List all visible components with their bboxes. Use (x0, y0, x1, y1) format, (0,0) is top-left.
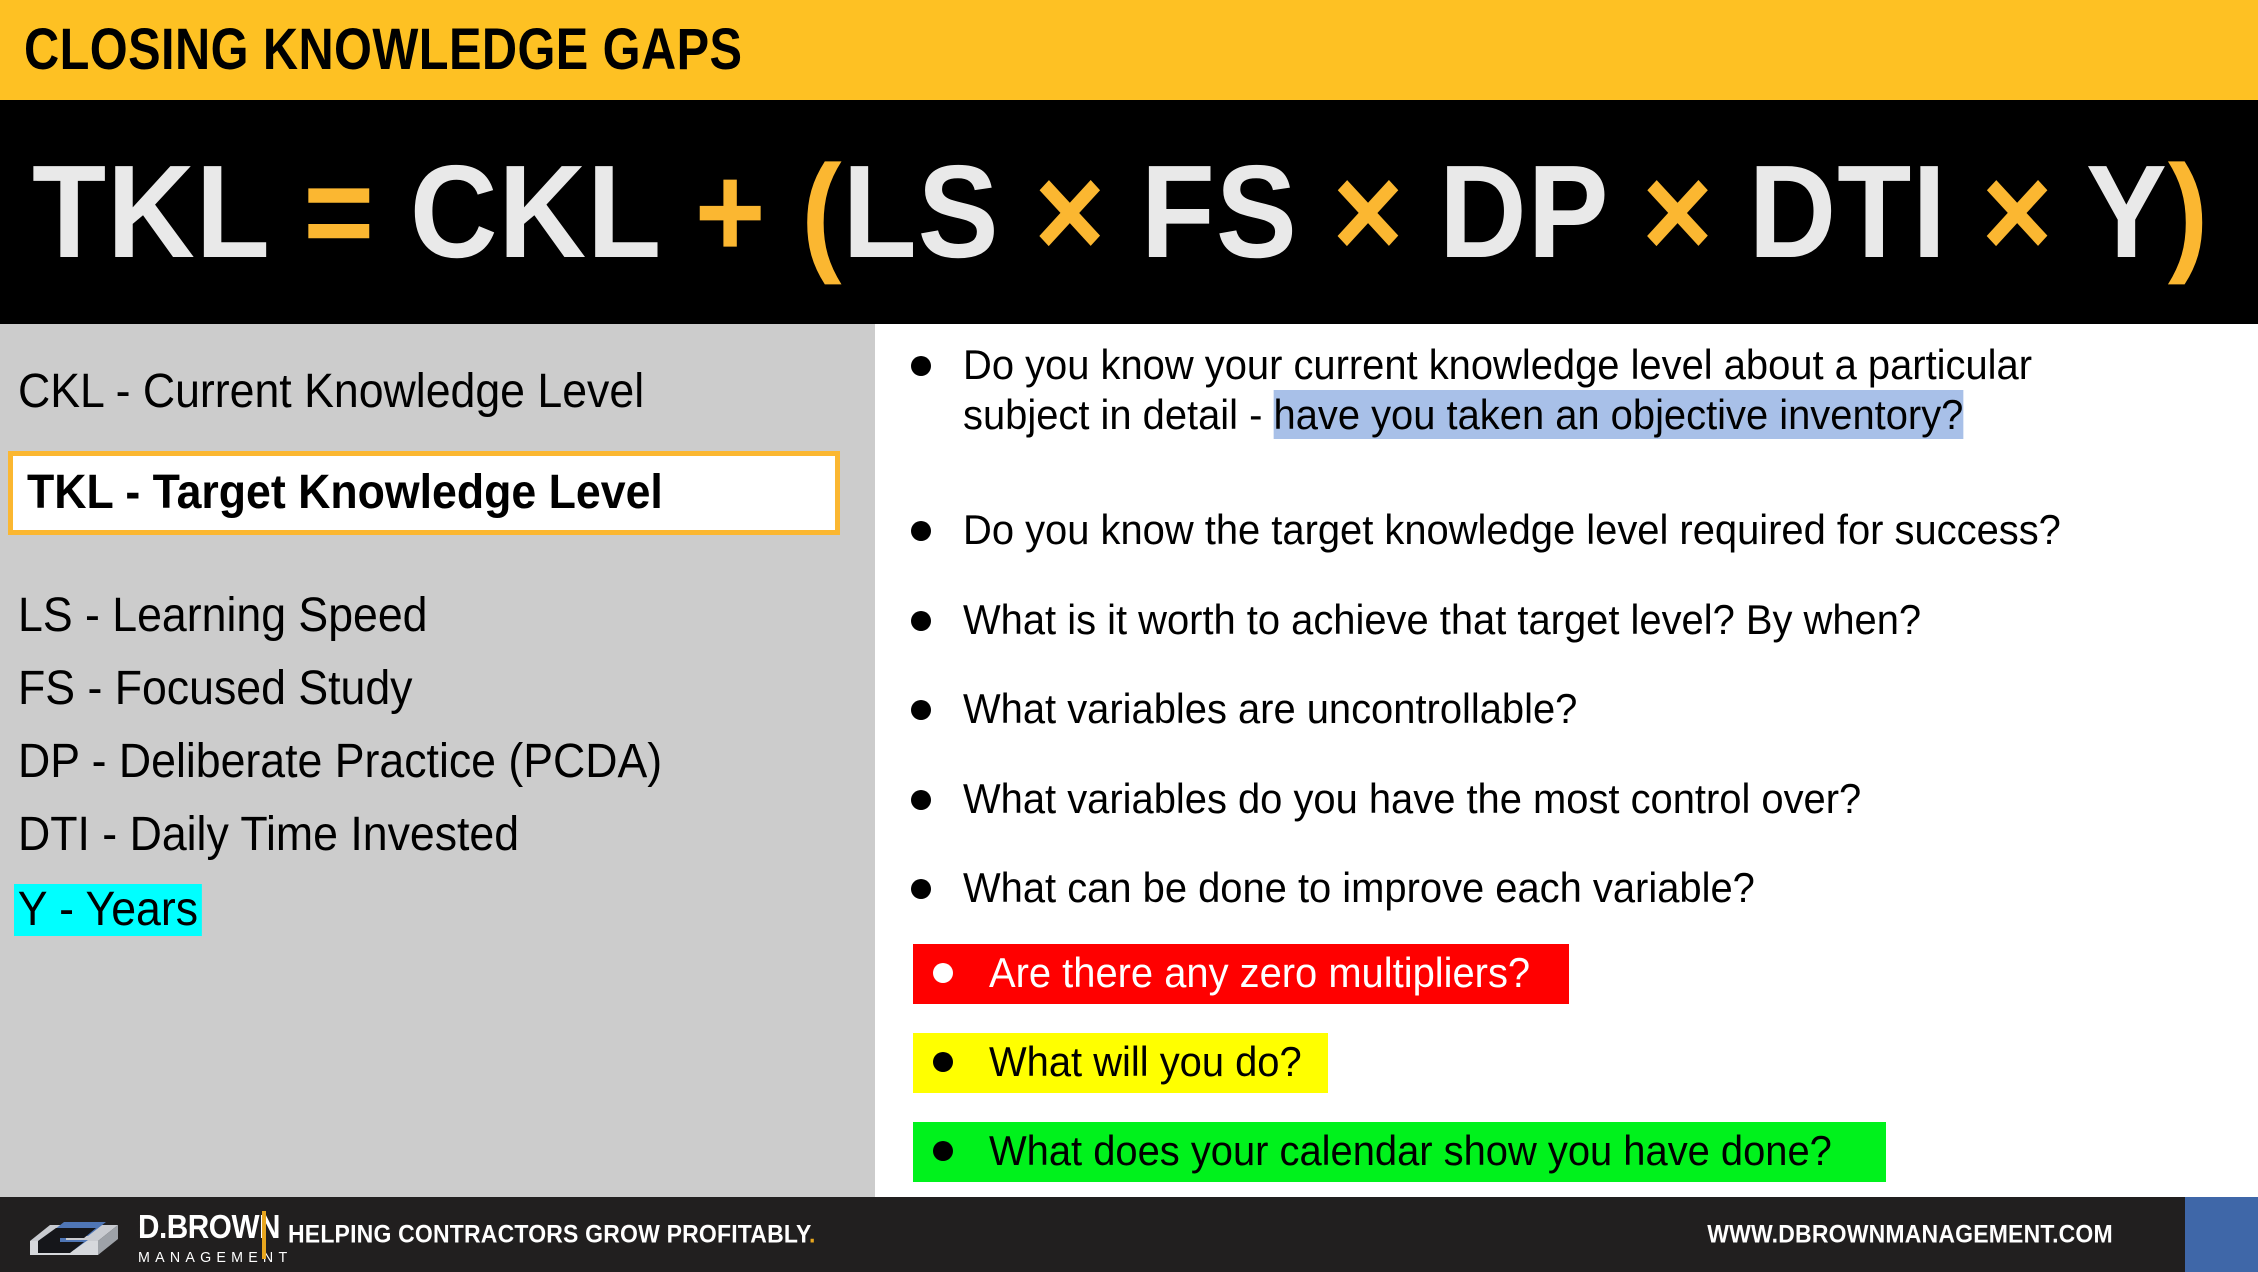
list-item-highlight-green: What does your calendar show you have do… (913, 1122, 1886, 1182)
list-item: What variables are uncontrollable? (875, 684, 2258, 734)
dbrown-wordmark: D.BROWN MANAGEMENT (138, 1210, 301, 1265)
formula-token-fs: FS (1141, 138, 1298, 285)
footer-url[interactable]: WWW.DBROWNMANAGEMENT.COM (1707, 1222, 2113, 1247)
legend-item-ls: LS - Learning Speed (18, 592, 428, 640)
list-item: Do you know your current knowledge level… (875, 340, 2258, 439)
question-text-7: Are there any zero multipliers? (989, 948, 1530, 998)
formula-token-y: Y (2086, 138, 2168, 285)
formula-token-tkl: TKL (32, 138, 269, 285)
question-text-3: What is it worth to achieve that target … (963, 595, 1921, 645)
question-text-1: Do you know your current knowledge level… (963, 340, 2151, 439)
formula-token-ls: LS (843, 138, 1000, 285)
formula-expression: TKL = CKL + (LS × FS × DP × DTI × Y) (32, 146, 2209, 278)
formula-band: TKL = CKL + (LS × FS × DP × DTI × Y) (0, 100, 2258, 324)
footer-divider (262, 1211, 266, 1259)
formula-token-open-paren: ( (801, 138, 842, 285)
bullet-icon (933, 1052, 953, 1072)
logo-subtitle: MANAGEMENT (138, 1250, 292, 1265)
bullet-icon (911, 521, 931, 541)
legend-item-dti: DTI - Daily Time Invested (18, 811, 519, 859)
bullet-icon (911, 700, 931, 720)
bullet-icon (911, 879, 931, 899)
question-text-1-highlight: have you taken an objective inventory? (1274, 390, 1964, 439)
legend-item-fs: FS - Focused Study (18, 665, 412, 713)
legend-item-tkl-label: TKL - Target Knowledge Level (27, 469, 663, 517)
question-text-2: Do you know the target knowledge level r… (963, 505, 2061, 555)
formula-token-times-1: × (1034, 138, 1106, 285)
list-item: What can be done to improve each variabl… (875, 863, 2258, 913)
list-item-highlight-red: Are there any zero multipliers? (913, 944, 1569, 1004)
header-bar: CLOSING KNOWLEDGE GAPS (0, 0, 2258, 100)
formula-token-times-4: × (1982, 138, 2054, 285)
list-item: Do you know the target knowledge level r… (875, 505, 2258, 555)
bullet-icon (911, 356, 931, 376)
legend-item-y: Y - Years (14, 884, 202, 936)
formula-token-dp: DP (1439, 138, 1607, 285)
bullet-icon (933, 1141, 953, 1161)
question-text-5: What variables do you have the most cont… (963, 774, 1861, 824)
legend-item-tkl-box: TKL - Target Knowledge Level (8, 451, 840, 535)
footer-accent-block (2185, 1197, 2258, 1272)
formula-token-plus: + (695, 138, 767, 285)
formula-token-times-2: × (1332, 138, 1404, 285)
formula-token-equals: = (303, 138, 375, 285)
formula-token-times-3: × (1642, 138, 1714, 285)
list-item-highlight-yellow: What will you do? (913, 1033, 1328, 1093)
footer-bar: D.BROWN MANAGEMENT HELPING CONTRACTORS G… (0, 1197, 2258, 1272)
slide-canvas: CLOSING KNOWLEDGE GAPS TKL = CKL + (LS ×… (0, 0, 2258, 1272)
formula-token-close-paren: ) (2168, 138, 2209, 285)
formula-token-ckl: CKL (410, 138, 660, 285)
bullet-icon (933, 963, 953, 983)
legend-item-ckl: CKL - Current Knowledge Level (18, 368, 644, 416)
question-text-6: What can be done to improve each variabl… (963, 863, 1755, 913)
question-text-4: What variables are uncontrollable? (963, 684, 1577, 734)
formula-token-dti: DTI (1749, 138, 1947, 285)
page-title: CLOSING KNOWLEDGE GAPS (24, 21, 742, 79)
footer-tagline-text: HELPING CONTRACTORS GROW PROFITABLY (288, 1220, 809, 1248)
bullet-icon (911, 790, 931, 810)
dbrown-logo-icon (26, 1211, 122, 1261)
bullet-icon (911, 611, 931, 631)
footer-tagline-accent: . (809, 1220, 816, 1248)
footer-tagline: HELPING CONTRACTORS GROW PROFITABLY. (288, 1222, 816, 1247)
list-item: What variables do you have the most cont… (875, 774, 2258, 824)
question-text-8: What will you do? (989, 1037, 1302, 1087)
question-text-9: What does your calendar show you have do… (989, 1126, 1832, 1176)
legend-item-dp: DP - Deliberate Practice (PCDA) (18, 738, 662, 786)
list-item: What is it worth to achieve that target … (875, 595, 2258, 645)
